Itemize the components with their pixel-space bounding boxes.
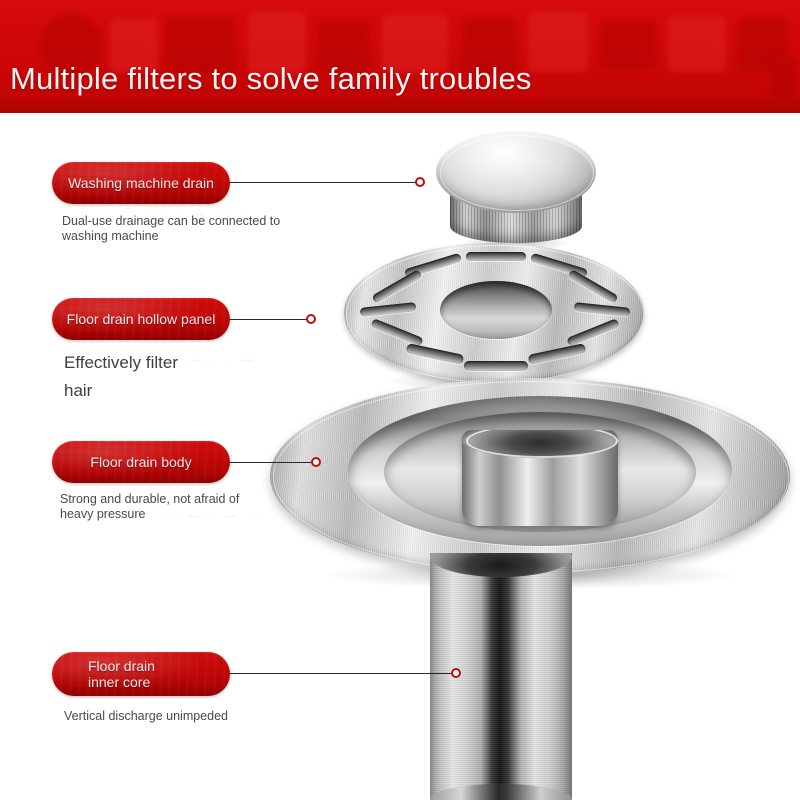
hollow-panel-disc: [344, 243, 644, 383]
dome-cap-top: [436, 131, 596, 213]
callout-pill-floor-drain-inner-core[interactable]: Floor drain inner core: [52, 652, 230, 696]
callout-pill-floor-drain-body[interactable]: Floor drain body: [52, 441, 230, 483]
callout-caption-floor-drain-inner-core: Vertical discharge unimpeded: [64, 709, 324, 724]
inner-core-tube: [430, 553, 572, 800]
header-ghost-text: [0, 0, 800, 113]
drain-body-flange: [270, 378, 790, 574]
callout-dot-floor-drain-inner-core: [451, 668, 461, 678]
callout-label-floor-drain-inner-core: Floor drain inner core: [52, 658, 230, 690]
callout-dot-floor-drain-body: [311, 457, 321, 467]
dome-cap-rim: [440, 135, 594, 211]
hollow-panel-center-hole: [440, 281, 552, 339]
callout-label-floor-drain-hollow-panel: Floor drain hollow panel: [57, 311, 226, 327]
connector-line-floor-drain-body: [228, 462, 316, 463]
connector-line-floor-drain-hollow-panel: [228, 319, 311, 320]
callout-caption-floor-drain-hollow-panel: Effectively filter hair: [64, 349, 314, 405]
tube-brushed-texture: [430, 553, 572, 800]
callout-pill-floor-drain-hollow-panel[interactable]: Floor drain hollow panel: [52, 298, 230, 340]
connector-line-floor-drain-inner-core: [228, 673, 456, 674]
drain-body-collar-ring: [466, 430, 618, 458]
dome-cap-part: [436, 131, 596, 249]
header-banner: Multiple filters to solve family trouble…: [0, 0, 800, 113]
header-title: Multiple filters to solve family trouble…: [10, 63, 532, 94]
callout-caption-washing-machine-drain: Dual-use drainage can be connected to wa…: [62, 214, 312, 244]
callout-pill-washing-machine-drain[interactable]: Washing machine drain: [52, 162, 230, 204]
drain-body-center-collar: [462, 430, 618, 526]
callout-caption-floor-drain-body: Strong and durable, not afraid of heavy …: [60, 492, 310, 522]
callout-label-washing-machine-drain: Washing machine drain: [58, 175, 224, 191]
infographic-page: Multiple filters to solve family trouble…: [0, 0, 800, 800]
callout-dot-floor-drain-hollow-panel: [306, 314, 316, 324]
connector-line-washing-machine-drain: [228, 182, 416, 183]
callout-label-floor-drain-body: Floor drain body: [80, 454, 201, 470]
callout-dot-washing-machine-drain: [415, 177, 425, 187]
